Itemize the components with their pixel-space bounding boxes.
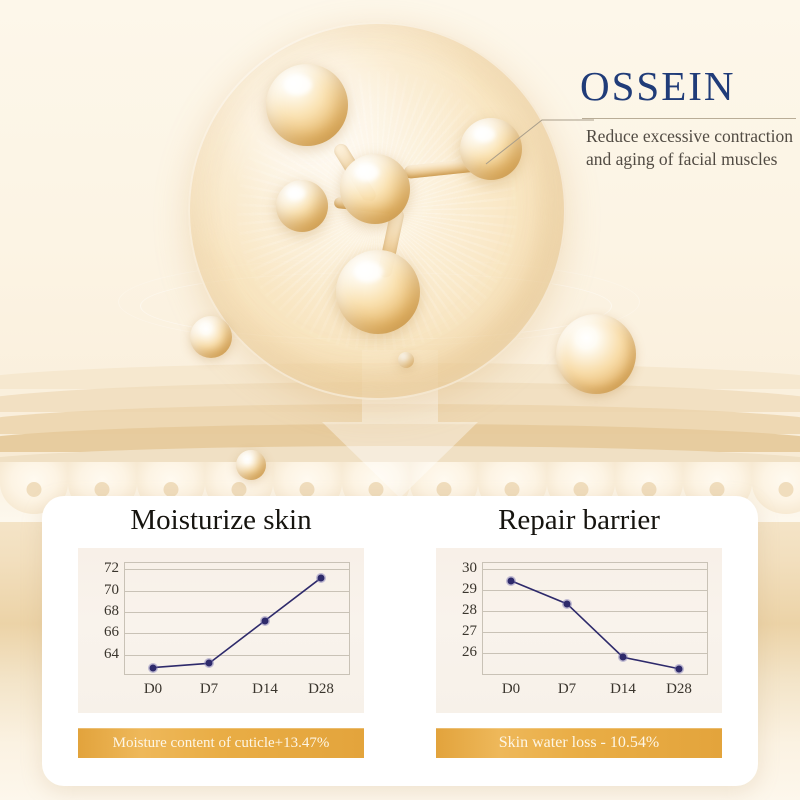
chart-data-point: [620, 654, 627, 661]
chart-y-tick-label: 70: [104, 582, 119, 599]
chart-x-tick-label: D28: [308, 681, 334, 698]
chart-x-tick-label: D14: [610, 681, 636, 698]
chart-title-repair: Repair barrier: [400, 504, 758, 537]
brand-title: OSSEIN: [580, 62, 736, 110]
chart-y-tick-label: 26: [462, 644, 477, 661]
chart-x-tick-label: D7: [558, 681, 576, 698]
chart-x-tick-label: D0: [502, 681, 520, 698]
chart-y-tick-label: 27: [462, 623, 477, 640]
serum-droplet-large-right: [556, 314, 636, 394]
chart-x-tick-label: D14: [252, 681, 278, 698]
chart-plot-area-moisturize: 6466687072D0D7D14D28: [78, 548, 364, 713]
brand-divider: [582, 118, 796, 119]
chart-axes-repair: 2627282930D0D7D14D28: [482, 562, 708, 675]
chart-plot-area-repair: 2627282930D0D7D14D28: [436, 548, 722, 713]
brand-tagline: Reduce excessive contraction and aging o…: [586, 125, 796, 172]
infographic-stage: OSSEIN Reduce excessive contraction and …: [0, 0, 800, 800]
chart-y-tick-label: 68: [104, 603, 119, 620]
chart-caption-repair: Skin water loss - 10.54%: [436, 728, 722, 758]
molecule-atom-top-left: [266, 64, 348, 146]
serum-droplet-small-left: [190, 316, 232, 358]
chart-x-tick-label: D0: [144, 681, 162, 698]
chart-data-point: [206, 660, 213, 667]
chart-data-point: [318, 574, 325, 581]
molecule-atom-left: [276, 180, 328, 232]
molecule-atom-center: [340, 154, 410, 224]
chart-title-moisturize: Moisturize skin: [42, 504, 400, 537]
chart-data-point: [150, 664, 157, 671]
chart-y-tick-label: 66: [104, 625, 119, 642]
serum-droplet-tiny: [398, 352, 414, 368]
chart-data-point: [262, 617, 269, 624]
skin-cell: [752, 462, 800, 514]
chart-series-line: [483, 563, 707, 674]
chart-data-point: [676, 665, 683, 672]
chart-axes-moisturize: 6466687072D0D7D14D28: [124, 562, 350, 675]
chart-y-tick-label: 28: [462, 602, 477, 619]
chart-caption-moisturize: Moisture content of cuticle+13.47%: [78, 728, 364, 758]
chart-panel-repair: Repair barrier 2627282930D0D7D14D28 Skin…: [400, 496, 758, 786]
chart-data-point: [508, 577, 515, 584]
chart-y-tick-label: 30: [462, 560, 477, 577]
chart-panel-moisturize: Moisturize skin 6466687072D0D7D14D28 Moi…: [42, 496, 400, 786]
leader-line: [484, 116, 594, 166]
chart-x-tick-label: D28: [666, 681, 692, 698]
chart-y-tick-label: 29: [462, 581, 477, 598]
chart-data-point: [564, 600, 571, 607]
molecule-atom-bottom: [336, 250, 420, 334]
chart-series-line: [125, 563, 349, 674]
chart-x-tick-label: D7: [200, 681, 218, 698]
serum-droplet-skin: [236, 450, 266, 480]
serum-bubble: [188, 22, 566, 400]
results-card: Moisturize skin 6466687072D0D7D14D28 Moi…: [42, 496, 758, 786]
chart-y-tick-label: 72: [104, 561, 119, 578]
chart-panels: Moisturize skin 6466687072D0D7D14D28 Moi…: [42, 496, 758, 786]
chart-y-tick-label: 64: [104, 646, 119, 663]
